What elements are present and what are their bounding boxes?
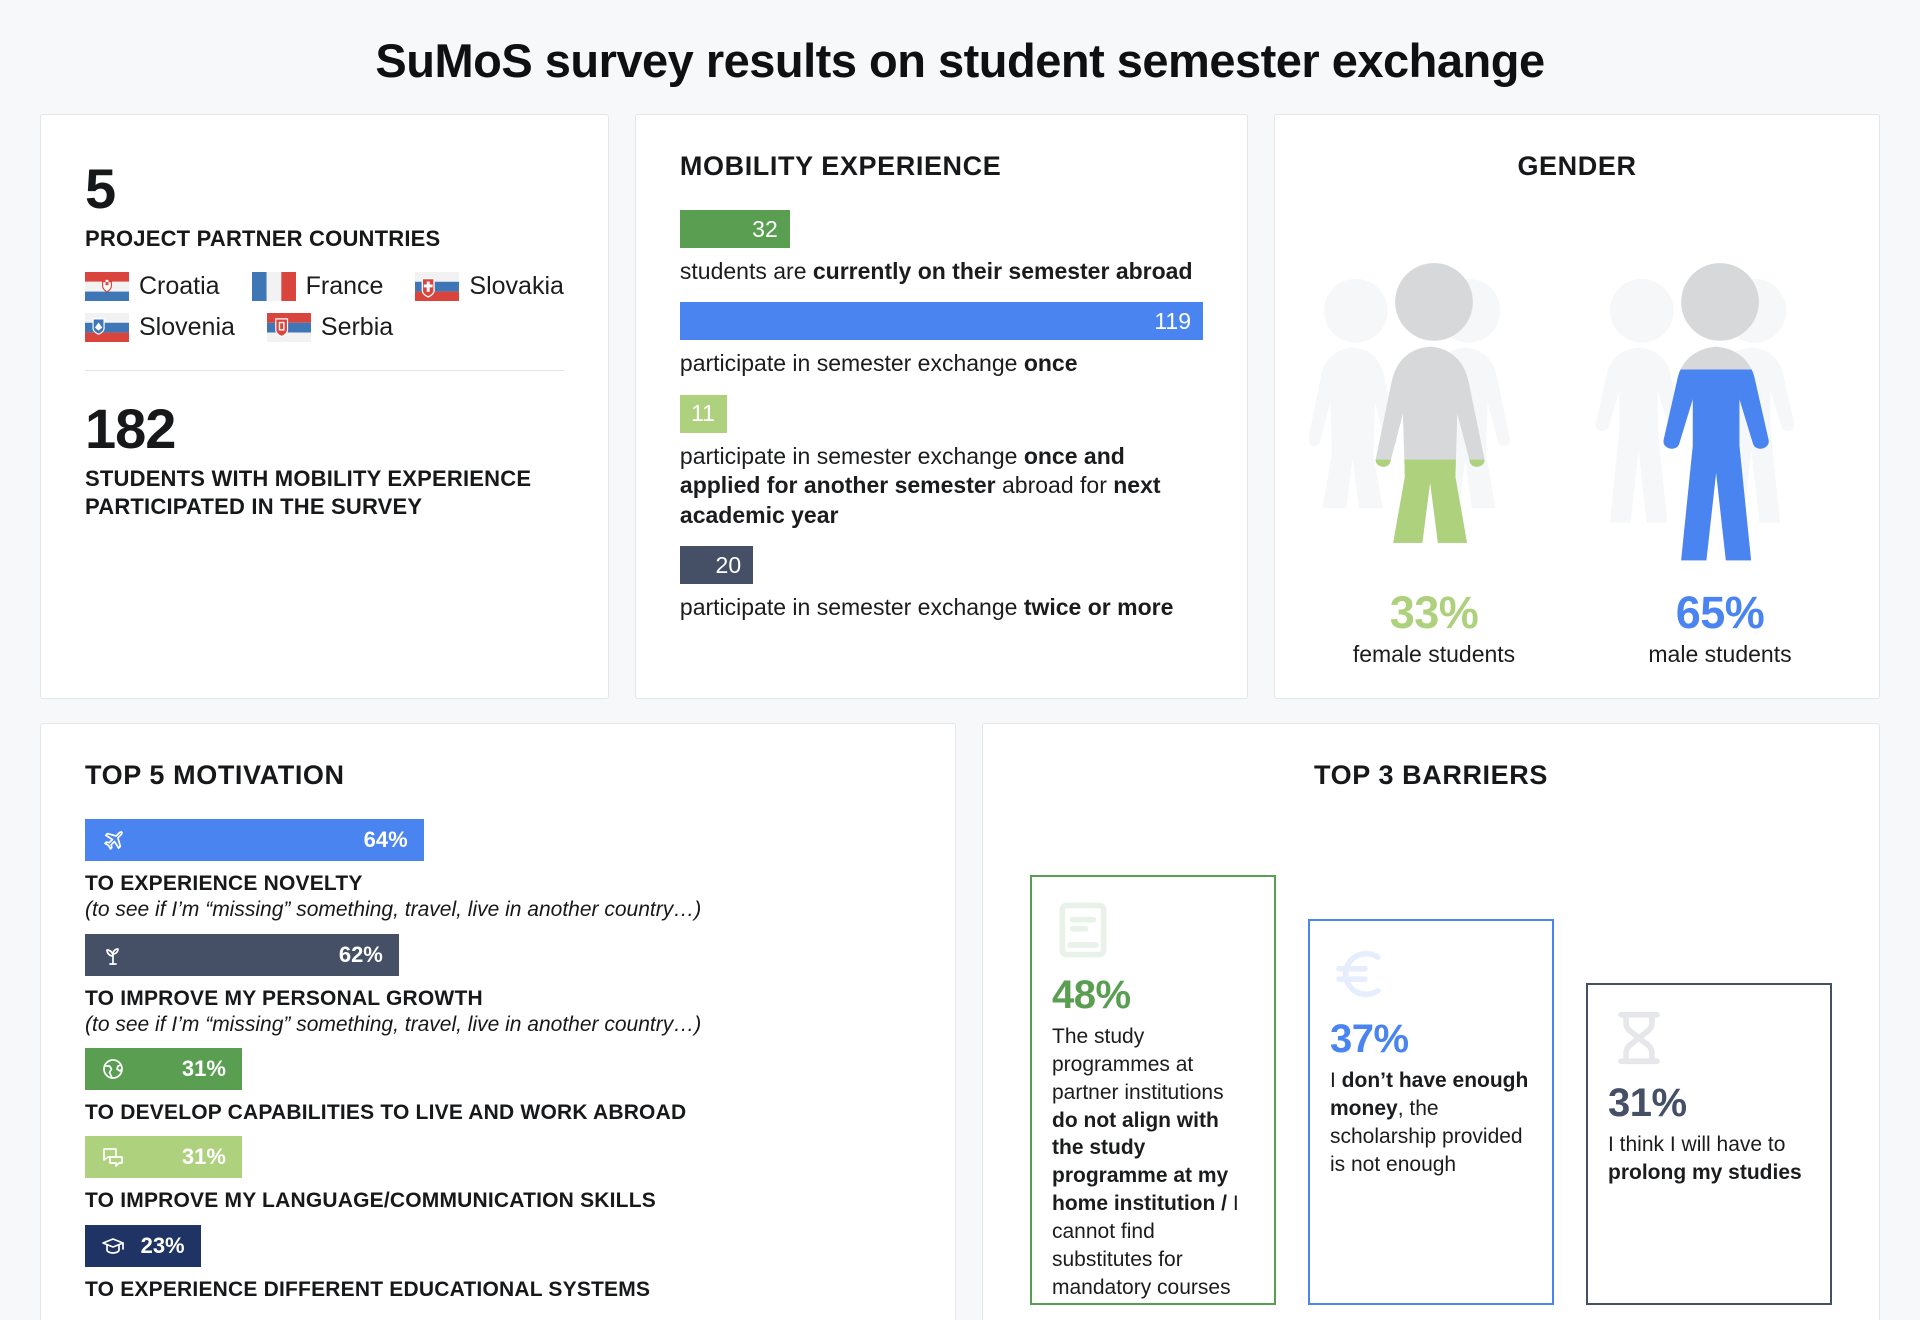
gender-figures: 33%female students65%male students [1309, 232, 1845, 668]
airplane-icon [101, 828, 125, 852]
male-figure-icon [1595, 232, 1845, 577]
motivation-subtitle: (to see if I’m “missing” something, trav… [85, 1012, 911, 1038]
mobility-item: 11participate in semester exchange once … [680, 395, 1203, 530]
students-label: STUDENTS WITH MOBILITY EXPERIENCE PARTIC… [85, 465, 564, 522]
country-name: Croatia [139, 272, 220, 301]
mobility-item: 20participate in semester exchange twice… [680, 546, 1203, 622]
hourglass-icon [1608, 1007, 1670, 1069]
countries-block: 5 PROJECT PARTNER COUNTRIES CroatiaFranc… [85, 161, 564, 354]
overview-card: 5 PROJECT PARTNER COUNTRIES CroatiaFranc… [40, 114, 609, 699]
gender-column-male: 65%male students [1595, 232, 1845, 668]
graduation-cap-icon [101, 1234, 125, 1258]
motivation-percentage: 31% [182, 1056, 226, 1082]
gender-card: GENDER 33%female students65%male student… [1274, 114, 1880, 699]
page-title: SuMoS survey results on student semester… [0, 0, 1920, 88]
countries-number: 5 [85, 161, 564, 217]
bottom-row: TOP 5 MOTIVATION 64%TO EXPERIENCE NOVELT… [0, 699, 1920, 1320]
barrier-percentage: 37% [1330, 1019, 1532, 1059]
mobility-caption: participate in semester exchange once [680, 349, 1203, 378]
countries-label: PROJECT PARTNER COUNTRIES [85, 225, 564, 254]
motivation-title-text: TO EXPERIENCE NOVELTY [85, 871, 911, 897]
country-item-serbia: Serbia [267, 313, 393, 342]
book-icon [1052, 899, 1114, 961]
motivation-bar: 31% [85, 1048, 242, 1090]
motivation-card: TOP 5 MOTIVATION 64%TO EXPERIENCE NOVELT… [40, 723, 956, 1320]
barrier-text: I think I will have to prolong my studie… [1608, 1131, 1810, 1187]
mobility-bar-value: 11 [691, 400, 715, 427]
motivation-bar: 31% [85, 1136, 242, 1178]
motivation-item: 23%TO EXPERIENCE DIFFERENT EDUCATIONAL S… [85, 1225, 911, 1303]
gender-column-female: 33%female students [1309, 232, 1559, 668]
serbia-flag [267, 313, 311, 342]
motivation-item: 31%TO IMPROVE MY LANGUAGE/COMMUNICATION … [85, 1136, 911, 1214]
overview-divider [85, 370, 564, 371]
mobility-caption: participate in semester exchange twice o… [680, 593, 1203, 622]
motivation-title-text: TO DEVELOP CAPABILITIES TO LIVE AND WORK… [85, 1100, 911, 1126]
slovenia-flag [85, 313, 129, 342]
barrier-card: 31%I think I will have to prolong my stu… [1586, 983, 1832, 1305]
top-row: 5 PROJECT PARTNER COUNTRIES CroatiaFranc… [0, 88, 1920, 699]
infographic-page: SuMoS survey results on student semester… [0, 0, 1920, 1320]
country-item-slovakia: Slovakia [415, 272, 564, 301]
gender-label: male students [1648, 641, 1791, 668]
motivation-percentage: 62% [339, 942, 383, 968]
motivation-item: 62%TO IMPROVE MY PERSONAL GROWTH(to see … [85, 934, 911, 1039]
mobility-bar: 20 [680, 546, 753, 584]
barriers-list: 48%The study programmes at partner insti… [1017, 819, 1845, 1319]
chat-icon [101, 1145, 125, 1169]
mobility-title: MOBILITY EXPERIENCE [680, 151, 1203, 182]
motivation-item: 31%TO DEVELOP CAPABILITIES TO LIVE AND W… [85, 1048, 911, 1126]
mobility-bar: 11 [680, 395, 727, 433]
mobility-bar: 119 [680, 302, 1203, 340]
country-item-slovenia: Slovenia [85, 313, 235, 342]
motivation-percentage: 31% [182, 1144, 226, 1170]
barriers-card: TOP 3 BARRIERS 48%The study programmes a… [982, 723, 1880, 1320]
mobility-bar-value: 20 [716, 552, 742, 579]
country-item-croatia: Croatia [85, 272, 220, 301]
gender-percentage: 33% [1390, 587, 1479, 639]
students-number: 182 [85, 401, 564, 457]
motivation-list: 64%TO EXPERIENCE NOVELTY(to see if I’m “… [85, 819, 911, 1303]
gender-percentage: 65% [1676, 587, 1765, 639]
motivation-subtitle: (to see if I’m “missing” something, trav… [85, 897, 911, 923]
france-flag [252, 272, 296, 301]
motivation-percentage: 64% [364, 827, 408, 853]
barrier-text: I don’t have enough money, the scholarsh… [1330, 1067, 1532, 1179]
barrier-percentage: 48% [1052, 975, 1254, 1015]
mobility-card: MOBILITY EXPERIENCE 32students are curre… [635, 114, 1248, 699]
country-name: Slovakia [469, 272, 564, 301]
mobility-bar-value: 119 [1154, 308, 1191, 335]
motivation-percentage: 23% [141, 1233, 185, 1259]
mobility-bar: 32 [680, 210, 790, 248]
barriers-title: TOP 3 BARRIERS [1017, 760, 1845, 791]
barrier-card: 48%The study programmes at partner insti… [1030, 875, 1276, 1305]
motivation-title-text: TO EXPERIENCE DIFFERENT EDUCATIONAL SYST… [85, 1277, 911, 1303]
country-name: Serbia [321, 313, 393, 342]
sprout-icon [101, 943, 125, 967]
female-figure-icon [1309, 232, 1559, 577]
mobility-item: 119participate in semester exchange once [680, 302, 1203, 378]
motivation-bar: 64% [85, 819, 424, 861]
mobility-caption: participate in semester exchange once an… [680, 442, 1203, 530]
croatia-flag [85, 272, 129, 301]
gender-label: female students [1353, 641, 1515, 668]
country-flag-list: CroatiaFranceSlovakiaSloveniaSerbia [85, 272, 564, 342]
motivation-item: 64%TO EXPERIENCE NOVELTY(to see if I’m “… [85, 819, 911, 924]
mobility-item: 32students are currently on their semest… [680, 210, 1203, 286]
country-item-france: France [252, 272, 384, 301]
euro-icon [1330, 943, 1392, 1005]
country-name: Slovenia [139, 313, 235, 342]
motivation-title-text: TO IMPROVE MY PERSONAL GROWTH [85, 986, 911, 1012]
country-name: France [306, 272, 384, 301]
mobility-list: 32students are currently on their semest… [680, 210, 1203, 623]
motivation-title-text: TO IMPROVE MY LANGUAGE/COMMUNICATION SKI… [85, 1188, 911, 1214]
mobility-bar-value: 32 [752, 216, 778, 243]
mobility-caption: students are currently on their semester… [680, 257, 1203, 286]
barrier-card: 37%I don’t have enough money, the schola… [1308, 919, 1554, 1305]
globe-icon [101, 1057, 125, 1081]
motivation-title: TOP 5 MOTIVATION [85, 760, 911, 791]
barrier-percentage: 31% [1608, 1083, 1810, 1123]
gender-title: GENDER [1309, 151, 1845, 182]
students-block: 182 STUDENTS WITH MOBILITY EXPERIENCE PA… [85, 401, 564, 522]
motivation-bar: 62% [85, 934, 399, 976]
slovakia-flag [415, 272, 459, 301]
country-flag-row: SloveniaSerbia [85, 313, 564, 342]
motivation-bar: 23% [85, 1225, 201, 1267]
barrier-text: The study programmes at partner institut… [1052, 1023, 1254, 1302]
country-flag-row: CroatiaFranceSlovakia [85, 272, 564, 301]
